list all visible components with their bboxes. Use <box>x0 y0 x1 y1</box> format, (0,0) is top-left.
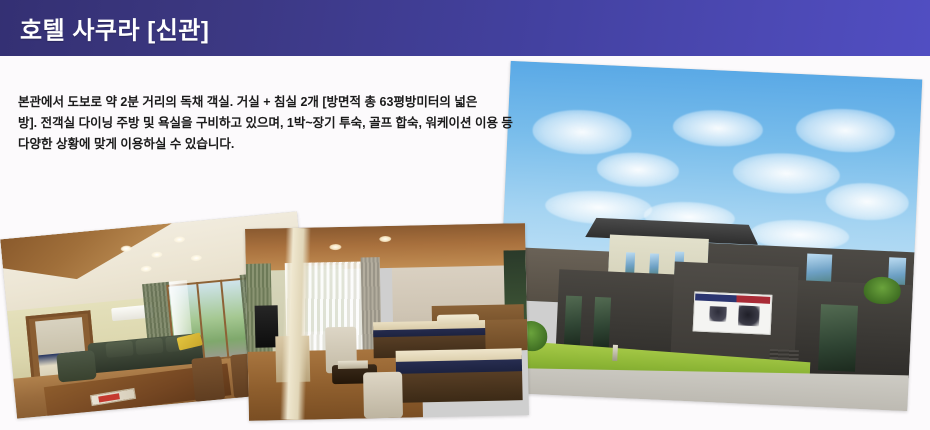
tree-icon <box>863 276 901 304</box>
photo-bedroom[interactable] <box>245 223 529 421</box>
page-title: 호텔 사쿠라 [신관] <box>20 11 209 46</box>
room-description: 본관에서 도보로 약 2분 거리의 독채 객실. 거실 + 침실 2개 [방면적… <box>18 92 498 155</box>
bedroom-scene <box>245 223 529 421</box>
signboard-crest-logo <box>709 306 726 322</box>
building-window <box>564 296 583 346</box>
garden-light <box>613 345 619 362</box>
armchair <box>56 350 97 382</box>
dining-chair <box>191 356 225 402</box>
description-line-2: 방]. 전객실 다이닝 주방 및 욕실을 구비하고 있으며, 1박~장기 투숙,… <box>18 113 498 134</box>
armchair <box>363 372 403 419</box>
photo-exterior[interactable] <box>496 61 923 411</box>
exterior-scene <box>496 61 923 411</box>
description-line-3: 다양한 상황에 맞게 이용하실 수 있습니다. <box>18 134 498 155</box>
building-window <box>818 304 858 372</box>
building-window <box>593 297 612 347</box>
sofa-cushion <box>106 341 134 358</box>
magazines <box>337 361 368 369</box>
description-line-1: 본관에서 도보로 약 2분 거리의 독채 객실. 거실 + 침실 2개 [방면적… <box>18 92 498 113</box>
page-header: 호텔 사쿠라 [신관] <box>0 0 930 56</box>
sofa-cushion <box>135 338 163 355</box>
signboard-sakura-logo <box>738 305 759 326</box>
page-root: 호텔 사쿠라 [신관] 본관에서 도보로 약 2분 거리의 독채 객실. 거실 … <box>0 0 930 430</box>
bed-pillow <box>437 314 479 324</box>
downlight-icon <box>380 235 392 241</box>
